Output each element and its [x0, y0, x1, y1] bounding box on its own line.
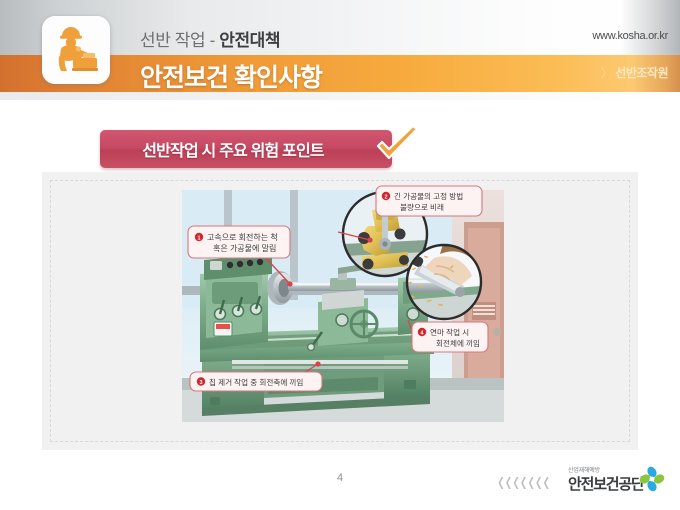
worker-at-lathe-icon	[42, 16, 110, 84]
breadcrumb-label: 선반조작원	[615, 66, 668, 80]
chevron-decoration: ❬❬❬❬❬❬❬	[496, 475, 549, 489]
callout-2: 2 긴 가공물의 고정 방법 불량으로 비래	[376, 186, 482, 216]
org-name: 안전보건공단	[568, 473, 644, 494]
svg-text:불량으로 비래: 불량으로 비래	[400, 203, 444, 212]
svg-text:혹은 가공물에 말림: 혹은 가공물에 말림	[213, 243, 276, 253]
svg-text:2: 2	[385, 195, 388, 201]
lathe-hazard-illustration: 1 고속으로 회전하는 척 혹은 가공물에 말림 2 긴 가공물의 고정 방법 …	[172, 182, 512, 440]
header-underline	[0, 92, 680, 100]
callout-1: 1 고속으로 회전하는 척 혹은 가공물에 말림	[188, 226, 290, 258]
kosha-pinwheel-icon	[638, 465, 666, 493]
page-title: 안전보건 확인사항	[140, 58, 322, 94]
page-subtitle: 선반 작업 - 안전대책	[140, 26, 280, 51]
svg-text:고속으로 회전하는 척: 고속으로 회전하는 척	[207, 232, 278, 242]
kosha-footer-logo: ❬❬❬❬❬❬❬ 산업재해예방 안전보건공단	[496, 463, 668, 497]
callout-4: 4 연마 작업 시 회전체에 끼임	[412, 322, 488, 352]
svg-text:4: 4	[421, 331, 424, 337]
callout-3: 3 칩 제거 작업 중 회전축에 끼임	[190, 372, 322, 391]
content-panel: 1 고속으로 회전하는 척 혹은 가공물에 말림 2 긴 가공물의 고정 방법 …	[42, 172, 638, 450]
svg-text:칩 제거 작업 중 회전축에 끼임: 칩 제거 작업 중 회전축에 끼임	[209, 377, 303, 387]
breadcrumb: 〉선반조작원	[601, 64, 668, 81]
page-subtitle-strong: 안전대책	[219, 31, 280, 50]
orange-check-icon	[372, 124, 424, 168]
kosha-url[interactable]: www.kosha.or.kr	[592, 30, 668, 42]
page-header: 선반 작업 - 안전대책 안전보건 확인사항 www.kosha.or.kr 〉…	[0, 0, 680, 100]
svg-text:회전체에 끼임: 회전체에 끼임	[436, 338, 480, 348]
page-subtitle-prefix: 선반 작업 -	[140, 31, 219, 50]
svg-text:연마 작업 시: 연마 작업 시	[430, 327, 469, 337]
svg-text:3: 3	[200, 380, 203, 386]
section-banner-title: 선반작업 시 주요 위험 포인트	[100, 130, 392, 168]
chevron-right-icon: 〉	[601, 66, 613, 80]
section-banner: 선반작업 시 주요 위험 포인트	[100, 130, 400, 170]
svg-text:긴 가공물의 고정 방법: 긴 가공물의 고정 방법	[394, 191, 463, 201]
svg-text:1: 1	[198, 236, 201, 242]
